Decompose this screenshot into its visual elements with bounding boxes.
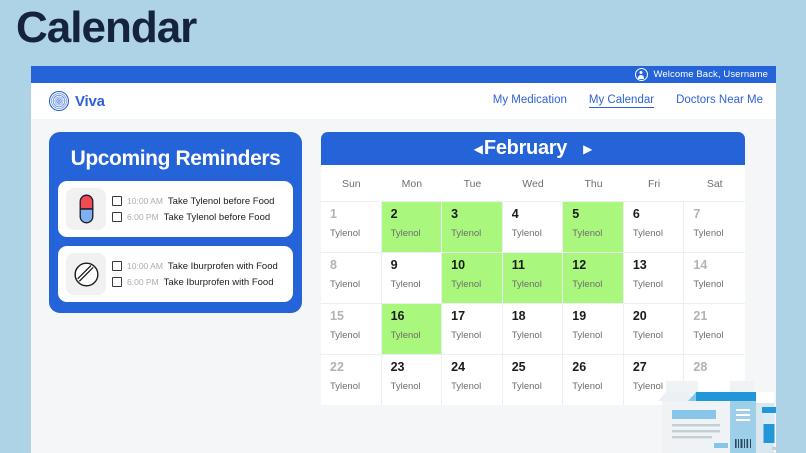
calendar-day-medication-label: Tylenol: [330, 279, 381, 290]
dow-tue: Tue: [442, 165, 503, 201]
calendar-day-number: 7: [693, 208, 745, 221]
calendar-day-number: 9: [391, 259, 442, 272]
calendar-day-medication-label: Tylenol: [330, 330, 381, 341]
calendar-day-cell[interactable]: 23Tylenol: [382, 354, 443, 405]
calendar-day-number: 28: [693, 361, 745, 374]
calendar-day-number: 8: [330, 259, 381, 272]
calendar-day-number: 23: [391, 361, 442, 374]
calendar-day-cell[interactable]: 22Tylenol: [321, 354, 382, 405]
reminder-checkbox[interactable]: [112, 212, 122, 222]
calendar-day-cell[interactable]: 10Tylenol: [442, 252, 503, 303]
calendar-day-number: 19: [572, 310, 623, 323]
calendar-day-number: 13: [633, 259, 684, 272]
calendar-day-number: 15: [330, 310, 381, 323]
content-area: Upcoming Reminders 10:00 AM Take Tylenol…: [31, 119, 776, 453]
reminder-row[interactable]: 6:00 PM Take Iburprofen with Food: [112, 277, 285, 288]
calendar-day-medication-label: Tylenol: [572, 381, 623, 392]
reminder-text: Take Tylenol before Food: [164, 212, 271, 223]
reminder-card[interactable]: 10:00 AM Take Tylenol before Food 6:00 P…: [58, 181, 293, 237]
user-circle-icon[interactable]: [635, 68, 648, 81]
viva-mandala-logo: [49, 91, 69, 111]
calendar-day-number: 27: [633, 361, 684, 374]
calendar-day-medication-label: Tylenol: [512, 330, 563, 341]
app-window: Welcome Back, Username: [31, 66, 776, 453]
calendar-day-medication-label: Tylenol: [512, 381, 563, 392]
calendar-day-medication-label: Tylenol: [512, 228, 563, 239]
calendar-day-number: 18: [512, 310, 563, 323]
welcome-bar: Welcome Back, Username: [31, 66, 776, 83]
calendar-day-medication-label: Tylenol: [451, 279, 502, 290]
dow-thu: Thu: [563, 165, 624, 201]
reminder-text: Take Iburprofen with Food: [168, 261, 278, 272]
nav-links: My Medication My Calendar Doctors Near M…: [493, 94, 763, 108]
calendar-day-medication-label: Tylenol: [572, 279, 623, 290]
calendar-day-cell[interactable]: 15Tylenol: [321, 303, 382, 354]
calendar-day-cell[interactable]: 6Tylenol: [624, 201, 685, 252]
calendar-day-cell[interactable]: 5Tylenol: [563, 201, 624, 252]
calendar-day-medication-label: Tylenol: [572, 330, 623, 341]
calendar-day-medication-label: Tylenol: [572, 228, 623, 239]
calendar-day-number: 2: [391, 208, 442, 221]
nav-link-doctors-near-me[interactable]: Doctors Near Me: [676, 94, 763, 108]
calendar-day-cell[interactable]: 12Tylenol: [563, 252, 624, 303]
calendar-day-medication-label: Tylenol: [330, 228, 381, 239]
calendar-day-number: 16: [391, 310, 442, 323]
calendar-day-medication-label: Tylenol: [330, 381, 381, 392]
calendar-day-number: 10: [451, 259, 502, 272]
calendar-day-medication-label: Tylenol: [451, 228, 502, 239]
dow-mon: Mon: [382, 165, 443, 201]
brand-name: Viva: [75, 93, 105, 110]
calendar-day-number: 26: [572, 361, 623, 374]
calendar-day-cell[interactable]: 4Tylenol: [503, 201, 564, 252]
calendar-day-cell[interactable]: 27Tylenol: [624, 354, 685, 405]
calendar-day-number: 20: [633, 310, 684, 323]
calendar-day-number: 25: [512, 361, 563, 374]
calendar-day-number: 3: [451, 208, 502, 221]
calendar-day-medication-label: Tylenol: [391, 330, 442, 341]
chevron-right-icon[interactable]: ▶: [583, 143, 592, 155]
calendar-header: ◀ February ▶: [321, 132, 745, 165]
calendar-day-cell[interactable]: 17Tylenol: [442, 303, 503, 354]
navigation-bar: Viva My Medication My Calendar Doctors N…: [31, 83, 776, 119]
calendar-day-number: 22: [330, 361, 381, 374]
calendar-day-medication-label: Tylenol: [512, 279, 563, 290]
reminder-row[interactable]: 10:00 AM Take Iburprofen with Food: [112, 261, 285, 272]
calendar-day-medication-label: Tylenol: [633, 279, 684, 290]
reminder-rows: 10:00 AM Take Iburprofen with Food 6:00 …: [112, 261, 285, 288]
calendar-day-cell[interactable]: 7Tylenol: [684, 201, 745, 252]
chevron-left-icon[interactable]: ◀: [474, 143, 483, 155]
reminder-card[interactable]: 10:00 AM Take Iburprofen with Food 6:00 …: [58, 246, 293, 302]
welcome-text: Welcome Back, Username: [654, 69, 768, 80]
capsule-pill-icon-box: [66, 188, 106, 230]
calendar-panel: ◀ February ▶ Sun Mon Tue Wed Thu Fri Sat…: [321, 132, 745, 405]
reminder-checkbox[interactable]: [112, 196, 122, 206]
calendar-day-cell[interactable]: 13Tylenol: [624, 252, 685, 303]
calendar-month-label: February: [484, 137, 567, 160]
reminder-time: 10:00 AM: [127, 261, 163, 271]
calendar-day-medication-label: Tylenol: [693, 279, 745, 290]
calendar-day-number: 14: [693, 259, 745, 272]
calendar-day-cell[interactable]: 18Tylenol: [503, 303, 564, 354]
page-title: Calendar: [16, 4, 196, 52]
calendar-day-medication-label: Tylenol: [633, 381, 684, 392]
day-of-week-row: Sun Mon Tue Wed Thu Fri Sat: [321, 165, 745, 201]
calendar-day-number: 6: [633, 208, 684, 221]
reminder-time: 6:00 PM: [127, 212, 159, 222]
calendar-day-cell[interactable]: 26Tylenol: [563, 354, 624, 405]
calendar-day-number: 4: [512, 208, 563, 221]
calendar-day-number: 21: [693, 310, 745, 323]
calendar-day-medication-label: Tylenol: [693, 381, 745, 392]
calendar-day-cell[interactable]: 8Tylenol: [321, 252, 382, 303]
reminder-row[interactable]: 10:00 AM Take Tylenol before Food: [112, 196, 285, 207]
calendar-day-cell[interactable]: 16Tylenol: [382, 303, 443, 354]
capsule-pill-icon: [79, 194, 94, 224]
calendar-day-medication-label: Tylenol: [633, 228, 684, 239]
nav-link-my-calendar[interactable]: My Calendar: [589, 94, 654, 108]
calendar-day-number: 5: [572, 208, 623, 221]
calendar-day-medication-label: Tylenol: [633, 330, 684, 341]
calendar-day-medication-label: Tylenol: [451, 330, 502, 341]
reminder-rows: 10:00 AM Take Tylenol before Food 6:00 P…: [112, 196, 285, 223]
calendar-day-medication-label: Tylenol: [391, 381, 442, 392]
calendar-day-cell[interactable]: 28Tylenol: [684, 354, 745, 405]
calendar-day-cell[interactable]: 11Tylenol: [503, 252, 564, 303]
calendar-day-medication-label: Tylenol: [693, 330, 745, 341]
reminders-title: Upcoming Reminders: [58, 147, 293, 171]
dow-sun: Sun: [321, 165, 382, 201]
reminder-checkbox[interactable]: [112, 261, 122, 271]
calendar-day-cell[interactable]: 20Tylenol: [624, 303, 685, 354]
calendar-day-cell[interactable]: 1Tylenol: [321, 201, 382, 252]
reminder-time: 10:00 AM: [127, 196, 163, 206]
reminder-text: Take Iburprofen with Food: [164, 277, 274, 288]
calendar-day-cell[interactable]: 9Tylenol: [382, 252, 443, 303]
calendar-day-cell[interactable]: 14Tylenol: [684, 252, 745, 303]
calendar-day-number: 1: [330, 208, 381, 221]
calendar-day-number: 24: [451, 361, 502, 374]
reminder-row[interactable]: 6:00 PM Take Tylenol before Food: [112, 212, 285, 223]
dow-wed: Wed: [503, 165, 564, 201]
dow-fri: Fri: [624, 165, 685, 201]
calendar-day-number: 12: [572, 259, 623, 272]
round-tablet-icon: [73, 261, 100, 288]
calendar-day-medication-label: Tylenol: [693, 228, 745, 239]
calendar-grid: 1Tylenol2Tylenol3Tylenol4Tylenol5Tylenol…: [321, 201, 745, 405]
round-tablet-icon-box: [66, 253, 106, 295]
upcoming-reminders-panel: Upcoming Reminders 10:00 AM Take Tylenol…: [49, 132, 302, 313]
calendar-day-cell[interactable]: 25Tylenol: [503, 354, 564, 405]
nav-link-my-medication[interactable]: My Medication: [493, 94, 567, 108]
reminder-checkbox[interactable]: [112, 277, 122, 287]
calendar-day-number: 17: [451, 310, 502, 323]
calendar-day-medication-label: Tylenol: [391, 279, 442, 290]
reminder-time: 6:00 PM: [127, 277, 159, 287]
calendar-body: Sun Mon Tue Wed Thu Fri Sat 1Tylenol2Tyl…: [321, 165, 745, 405]
reminder-text: Take Tylenol before Food: [168, 196, 275, 207]
calendar-day-cell[interactable]: 3Tylenol: [442, 201, 503, 252]
calendar-day-medication-label: Tylenol: [451, 381, 502, 392]
brand-logo-group[interactable]: Viva: [49, 91, 105, 111]
calendar-day-cell[interactable]: 24Tylenol: [442, 354, 503, 405]
calendar-day-cell[interactable]: 2Tylenol: [382, 201, 443, 252]
calendar-day-number: 11: [512, 259, 563, 272]
calendar-day-cell[interactable]: 21Tylenol: [684, 303, 745, 354]
calendar-day-medication-label: Tylenol: [391, 228, 442, 239]
calendar-day-cell[interactable]: 19Tylenol: [563, 303, 624, 354]
dow-sat: Sat: [684, 165, 745, 201]
